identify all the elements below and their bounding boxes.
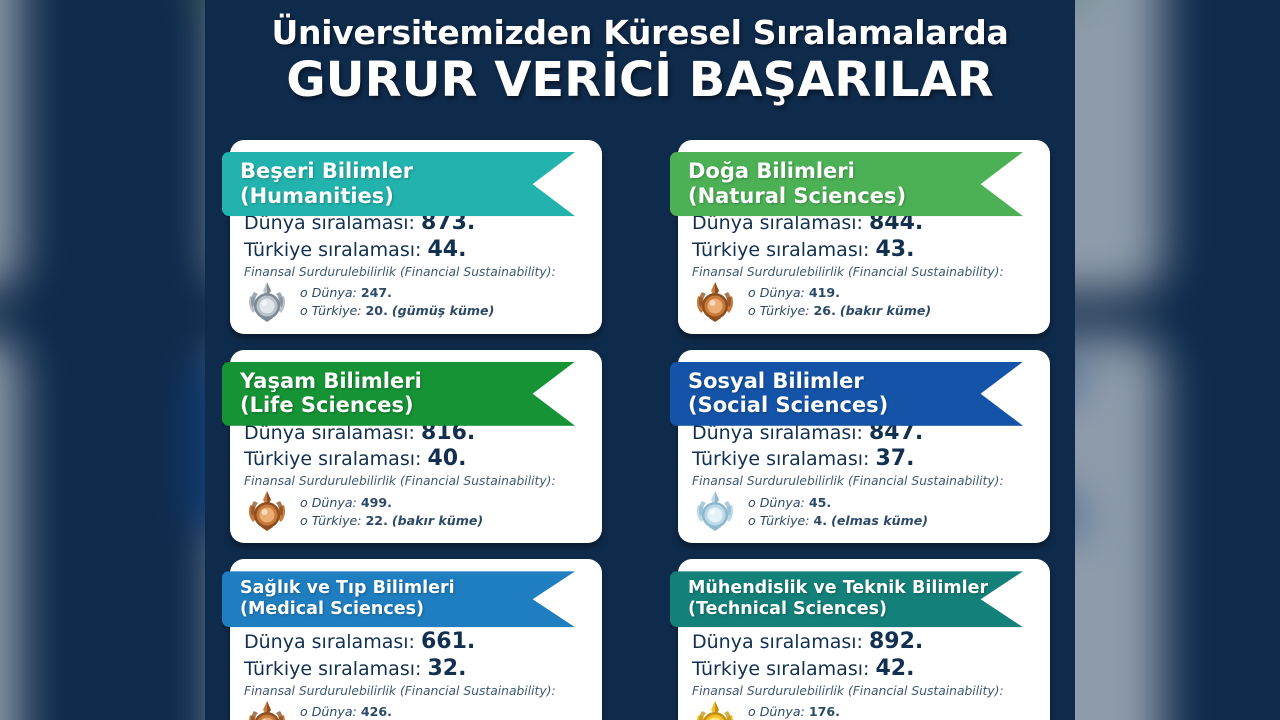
page-title: GURUR VERİCİ BAŞARILAR [205,54,1075,107]
world-rank-value: 661. [421,629,475,654]
fs-turkey-note: (gümüş küme) [392,303,494,318]
financial-sustainability-label: Finansal Surdurulebilirlik (Financial Su… [244,265,588,279]
financial-sustainability-lines: o Dünya: 499. o Türkiye: 22. (bakır küme… [298,495,483,528]
fs-turkey-note: (bakır küme) [840,303,931,318]
fs-world-prefix: o Dünya: [748,285,805,300]
financial-sustainability-block: o Dünya: 45. o Türkiye: 4. (elmas küme) [692,489,1036,533]
card-title-tr: Beşeri Bilimler [240,159,535,184]
ranking-card[interactable]: Sağlık ve Tıp Bilimleri (Medical Science… [230,559,602,720]
fs-world-value: 499. [361,495,392,510]
fs-turkey-line: o Türkiye: 26. (bakır küme) [748,303,931,318]
fs-world-line: o Dünya: 45. [748,495,928,510]
turkey-rank-value: 42. [875,656,914,681]
ranking-card[interactable]: Yaşam Bilimleri (Life Sciences) Dünya sı… [0,334,20,720]
diamond-medal-icon [692,489,738,533]
financial-sustainability-label: Finansal Surdurulebilirlik (Financial Su… [692,265,1036,279]
turkey-rank-value: 43. [875,237,914,262]
fs-turkey-prefix: o Türkiye: [748,303,810,318]
card-title-en: (Natural Sciences) [688,184,983,209]
card-ribbon: Sağlık ve Tıp Bilimleri (Medical Science… [222,571,575,627]
emblem-wrapper [692,489,738,533]
card-title-tr: Doğa Bilimleri [688,159,983,184]
turkey-rank-label: Türkiye sıralaması: [692,658,869,680]
card-ribbon: Yaşam Bilimleri (Life Sciences) [222,362,575,426]
fs-world-line: o Dünya: 499. [300,495,483,510]
emblem-wrapper [692,280,738,324]
poster-content: Üniversitemizden Küresel Sıralamalarda G… [205,0,1075,720]
fs-turkey-prefix: o Türkiye: [748,513,810,528]
emblem-wrapper [692,699,738,720]
financial-sustainability-lines: o Dünya: 419. o Türkiye: 26. (bakır küme… [746,285,931,318]
foreground-poster: Üniversitemizden Küresel Sıralamalarda G… [205,0,1075,720]
fs-world-value: 45. [809,495,831,510]
fs-turkey-line: o Türkiye: 20. (gümüş küme) [300,303,494,318]
ranking-card[interactable]: Beşeri Bilimler (Humanities) Dünya sıral… [0,0,20,293]
fs-world-prefix: o Dünya: [300,704,357,719]
fs-turkey-note: (bakır küme) [392,513,483,528]
fs-world-line: o Dünya: 419. [748,285,931,300]
financial-sustainability-block: o Dünya: 247. o Türkiye: 20. (gümüş küme… [244,280,588,324]
ranking-card[interactable]: Mühendislik ve Teknik Bilimler (Technica… [678,559,1050,720]
financial-sustainability-lines: o Dünya: 176. o Türkiye: 10. (altın küme… [746,704,927,720]
ranking-card[interactable]: Sosyal Bilimler (Social Sciences) Dünya … [678,350,1050,544]
fs-turkey-note: (elmas küme) [831,513,928,528]
card-ribbon: Mühendislik ve Teknik Bilimler (Technica… [670,571,1023,627]
turkey-rank-row: Türkiye sıralaması: 44. [244,237,588,264]
card-title-en: (Technical Sciences) [688,599,983,619]
card-title-tr: Mühendislik ve Teknik Bilimler [688,578,983,598]
card-ribbon: Sosyal Bilimler (Social Sciences) [670,362,1023,426]
copper-medal-icon [244,489,290,533]
financial-sustainability-label: Finansal Surdurulebilirlik (Financial Su… [244,474,588,488]
turkey-rank-row: Türkiye sıralaması: 40. [244,446,588,473]
turkey-rank-row: Türkiye sıralaması: 42. [692,656,1036,683]
card-title-en: (Social Sciences) [688,393,983,418]
world-rank-row: Dünya sıralaması: 892. [692,629,1036,656]
heading-block: Üniversitemizden Küresel Sıralamalarda G… [205,0,1075,107]
card-title-tr: Sağlık ve Tıp Bilimleri [240,578,535,598]
ranking-card[interactable]: Yaşam Bilimleri (Life Sciences) Dünya sı… [230,350,602,544]
financial-sustainability-label: Finansal Surdurulebilirlik (Financial Su… [244,684,588,698]
turkey-rank-label: Türkiye sıralaması: [244,239,421,261]
turkey-rank-label: Türkiye sıralaması: [244,448,421,470]
card-title-en: (Life Sciences) [240,393,535,418]
ranking-card[interactable]: Beşeri Bilimler (Humanities) Dünya sıral… [230,140,602,334]
fs-world-value: 176. [809,704,840,719]
turkey-rank-row: Türkiye sıralaması: 37. [692,446,1036,473]
turkey-rank-label: Türkiye sıralaması: [692,239,869,261]
silver-medal-icon [244,280,290,324]
financial-sustainability-block: o Dünya: 426. o Türkiye: 23. (bakır küme… [244,699,588,720]
fs-turkey-value: 20. [366,303,388,318]
fs-turkey-line: o Türkiye: 22. (bakır küme) [300,513,483,528]
fs-world-prefix: o Dünya: [748,495,805,510]
fs-world-prefix: o Dünya: [300,285,357,300]
turkey-rank-label: Türkiye sıralaması: [692,448,869,470]
financial-sustainability-label: Finansal Surdurulebilirlik (Financial Su… [692,474,1036,488]
emblem-wrapper [244,280,290,324]
fs-world-line: o Dünya: 426. [300,704,483,719]
card-grid: Beşeri Bilimler (Humanities) Dünya sıral… [230,140,1050,720]
fs-world-value: 247. [361,285,392,300]
fs-turkey-prefix: o Türkiye: [300,303,362,318]
financial-sustainability-lines: o Dünya: 247. o Türkiye: 20. (gümüş küme… [298,285,494,318]
fs-world-value: 426. [361,704,392,719]
turkey-rank-row: Türkiye sıralaması: 32. [244,656,588,683]
turkey-rank-value: 37. [875,446,914,471]
fs-world-line: o Dünya: 176. [748,704,927,719]
turkey-rank-value: 40. [427,446,466,471]
fs-turkey-line: o Türkiye: 4. (elmas küme) [748,513,928,528]
fs-world-line: o Dünya: 247. [300,285,494,300]
world-rank-row: Dünya sıralaması: 661. [244,629,588,656]
fs-world-value: 419. [809,285,840,300]
fs-turkey-value: 26. [814,303,836,318]
turkey-rank-label: Türkiye sıralaması: [244,658,421,680]
fs-turkey-prefix: o Türkiye: [300,513,362,528]
turkey-rank-row: Türkiye sıralaması: 43. [692,237,1036,264]
world-rank-label: Dünya sıralaması: [692,631,863,653]
financial-sustainability-block: o Dünya: 419. o Türkiye: 26. (bakır küme… [692,280,1036,324]
financial-sustainability-block: o Dünya: 499. o Türkiye: 22. (bakır küme… [244,489,588,533]
card-ribbon: Doğa Bilimleri (Natural Sciences) [670,152,1023,216]
financial-sustainability-lines: o Dünya: 426. o Türkiye: 23. (bakır küme… [298,704,483,720]
world-rank-value: 892. [869,629,923,654]
fs-turkey-value: 22. [366,513,388,528]
emblem-wrapper [244,489,290,533]
financial-sustainability-lines: o Dünya: 45. o Türkiye: 4. (elmas küme) [746,495,928,528]
page-subtitle: Üniversitemizden Küresel Sıralamalarda [205,14,1075,52]
fs-turkey-value: 4. [814,513,828,528]
turkey-rank-value: 32. [427,656,466,681]
card-title-en: (Medical Sciences) [240,599,535,619]
card-title-tr: Yaşam Bilimleri [240,369,535,394]
world-rank-label: Dünya sıralaması: [244,631,415,653]
financial-sustainability-block: o Dünya: 176. o Türkiye: 10. (altın küme… [692,699,1036,720]
copper-medal-icon [692,280,738,324]
ranking-card[interactable]: Doğa Bilimleri (Natural Sciences) Dünya … [678,140,1050,334]
fs-world-prefix: o Dünya: [748,704,805,719]
card-ribbon: Beşeri Bilimler (Humanities) [222,152,575,216]
gold-medal-icon [692,699,738,720]
financial-sustainability-label: Finansal Surdurulebilirlik (Financial Su… [692,684,1036,698]
card-title-tr: Sosyal Bilimler [688,369,983,394]
fs-world-prefix: o Dünya: [300,495,357,510]
copper-medal-icon [244,699,290,720]
card-title-en: (Humanities) [240,184,535,209]
turkey-rank-value: 44. [427,237,466,262]
emblem-wrapper [244,699,290,720]
